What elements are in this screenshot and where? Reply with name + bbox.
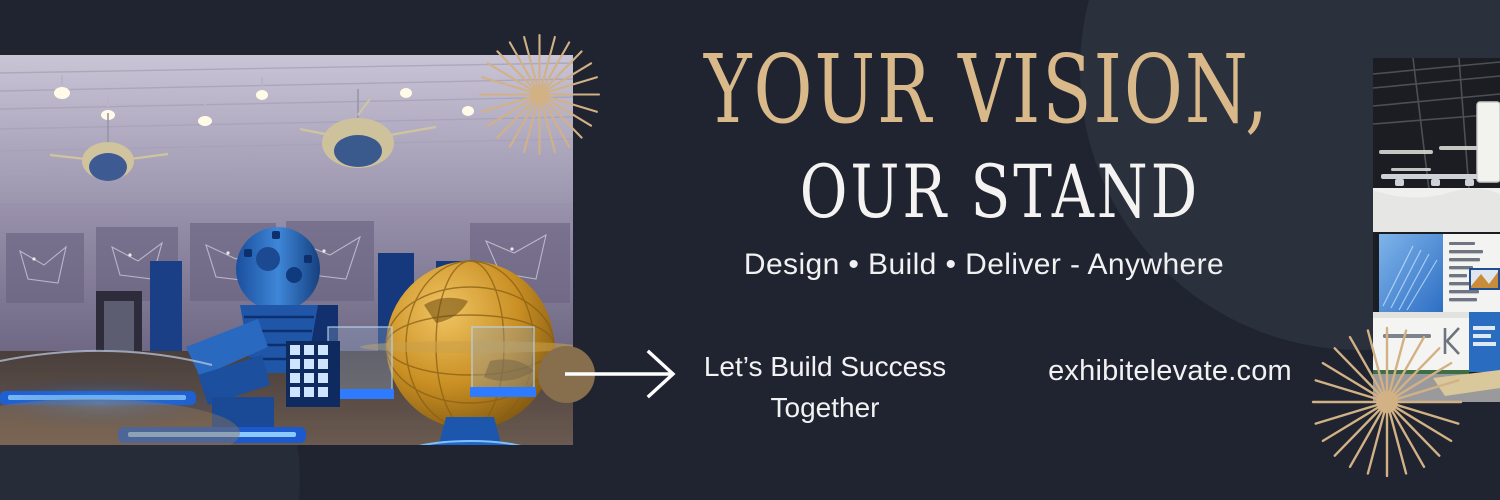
cta-text-line-1: Let’s Build Success	[660, 347, 990, 388]
starburst-icon-bottom	[1303, 318, 1471, 491]
tagline: Design • Build • Deliver - Anywhere	[608, 248, 1360, 282]
promo-banner: YOUR VISION, OUR STAND Design • Build • …	[0, 0, 1500, 500]
website-url[interactable]: exhibitelevate.com	[1000, 355, 1340, 388]
starburst-icon-top	[472, 27, 607, 167]
headline-line-2: OUR STAND	[651, 156, 1349, 229]
cta-text[interactable]: Let’s Build Success Together	[660, 347, 990, 429]
headline-line-1: YOUR VISION,	[629, 44, 1345, 137]
headline-block: YOUR VISION, OUR STAND Design • Build • …	[600, 44, 1360, 282]
cta-text-line-2: Together	[660, 388, 990, 429]
